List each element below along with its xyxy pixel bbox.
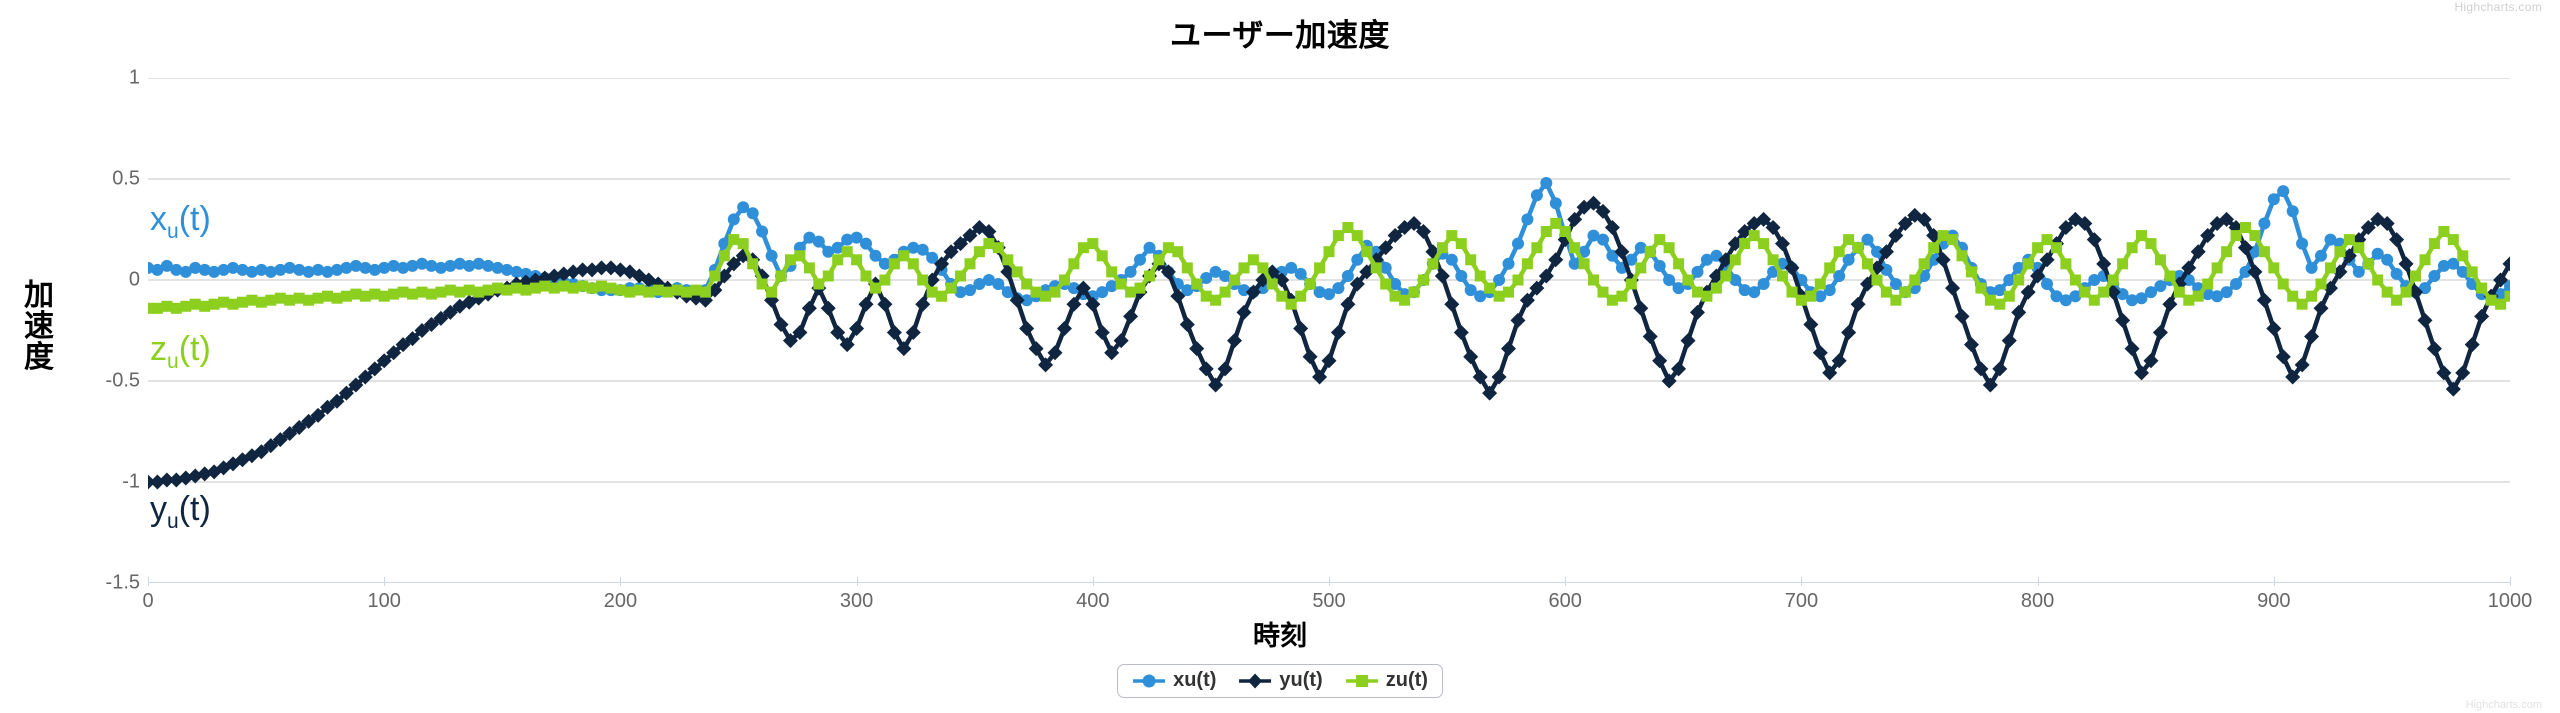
series-point bbox=[1116, 279, 1127, 290]
series-point bbox=[313, 293, 324, 304]
series-point bbox=[908, 258, 919, 269]
series-point bbox=[558, 281, 569, 292]
x-tick-label: 300 bbox=[797, 590, 917, 613]
series-point bbox=[1314, 262, 1325, 273]
series-point bbox=[946, 283, 957, 294]
series-point bbox=[2174, 287, 2185, 298]
series-point bbox=[2306, 291, 2317, 302]
series-point bbox=[492, 283, 503, 294]
series-point bbox=[2146, 238, 2157, 249]
series-point bbox=[1824, 262, 1835, 273]
series-point bbox=[766, 250, 778, 262]
series-point bbox=[955, 271, 966, 282]
highcharts-watermark: Highcharts.com bbox=[2454, 0, 2542, 14]
series-point bbox=[1541, 226, 1552, 237]
y-axis-title-char: 速 bbox=[16, 311, 62, 342]
series-point bbox=[1521, 213, 1533, 225]
series-point bbox=[1390, 291, 1401, 302]
series-point bbox=[1494, 291, 1505, 302]
series-point bbox=[1097, 250, 1108, 261]
series-point bbox=[2457, 250, 2468, 261]
series-point bbox=[1153, 254, 1164, 265]
annotation-subscript: u bbox=[167, 350, 179, 373]
series-point bbox=[2221, 286, 2233, 298]
series-point bbox=[1446, 230, 1457, 241]
series-point bbox=[549, 283, 560, 294]
series-point bbox=[530, 283, 541, 294]
series-point bbox=[152, 303, 163, 314]
series-point bbox=[1446, 254, 1458, 266]
series-point bbox=[700, 287, 711, 298]
series-point bbox=[1125, 287, 1136, 298]
series-point bbox=[1236, 305, 1251, 320]
x-tick-label: 800 bbox=[1978, 590, 2098, 613]
legend-label: xu(t) bbox=[1173, 669, 1216, 692]
series-point bbox=[2467, 266, 2478, 277]
series-point bbox=[1711, 283, 1722, 294]
series-point bbox=[1135, 283, 1146, 294]
series-point bbox=[218, 297, 229, 308]
series-point bbox=[1919, 258, 1930, 269]
legend-marker-diamond-icon bbox=[1238, 672, 1272, 690]
x-axis-title: 時刻 bbox=[0, 614, 2560, 653]
series-point bbox=[2051, 242, 2062, 253]
series-point bbox=[2296, 238, 2308, 250]
series-point bbox=[2155, 254, 2166, 265]
series-point bbox=[426, 289, 437, 300]
legend-marker-circle-icon bbox=[1132, 672, 1166, 690]
series-point bbox=[757, 279, 768, 290]
series-point bbox=[870, 283, 881, 294]
series-point bbox=[606, 283, 617, 294]
legend-item-xu(t)[interactable]: xu(t) bbox=[1132, 669, 1216, 692]
series-point bbox=[568, 283, 579, 294]
series-point bbox=[1465, 254, 1476, 265]
series-point bbox=[1134, 254, 1146, 266]
series-point bbox=[842, 246, 853, 257]
series-point bbox=[870, 250, 882, 262]
y-axis-title: 加速度 bbox=[16, 280, 62, 374]
xu-annotation: xu(t) bbox=[150, 200, 211, 244]
series-point bbox=[2060, 258, 2071, 269]
series-point bbox=[2476, 283, 2487, 294]
series-point bbox=[1229, 275, 1240, 286]
y-tick-label: -1 bbox=[70, 471, 140, 494]
series-point bbox=[2258, 217, 2270, 229]
series-point bbox=[1758, 238, 1769, 249]
series-point bbox=[1106, 266, 1117, 277]
series-point bbox=[879, 275, 890, 286]
y-axis-title-char: 加 bbox=[16, 280, 62, 311]
series-point bbox=[1352, 230, 1363, 241]
chart-title: ユーザー加速度 bbox=[0, 10, 2560, 55]
series-point bbox=[877, 297, 892, 312]
series-point bbox=[653, 285, 664, 296]
series-point bbox=[2420, 254, 2431, 265]
series-point bbox=[1180, 317, 1195, 332]
series-point bbox=[917, 275, 928, 286]
series-point bbox=[1002, 254, 1013, 265]
series-point bbox=[2070, 275, 2081, 286]
series-point bbox=[2013, 275, 2024, 286]
series-point bbox=[1210, 295, 1221, 306]
series-point bbox=[1380, 279, 1391, 290]
plot-svg bbox=[148, 78, 2510, 583]
series-point bbox=[1947, 234, 1958, 245]
series-point bbox=[1834, 246, 1845, 257]
series-point bbox=[473, 287, 484, 298]
series-point bbox=[1454, 325, 1469, 340]
x-tick-mark bbox=[2274, 577, 2275, 586]
annotation-subscript: u bbox=[167, 510, 179, 533]
annotation-suffix: (t) bbox=[179, 200, 211, 238]
series-point bbox=[1955, 309, 1970, 324]
series-point bbox=[1503, 258, 1515, 270]
series-point bbox=[1607, 295, 1618, 306]
series-point bbox=[2325, 262, 2336, 273]
series-point bbox=[2136, 230, 2147, 241]
series-point bbox=[1787, 287, 1798, 298]
series-point bbox=[1643, 329, 1658, 344]
series-point bbox=[2193, 291, 2204, 302]
yu-annotation: yu(t) bbox=[150, 490, 211, 534]
annotation-suffix: (t) bbox=[179, 330, 211, 368]
series-point bbox=[1805, 291, 1816, 302]
series-point bbox=[813, 279, 824, 290]
series-point bbox=[2268, 262, 2279, 273]
series-point bbox=[1522, 258, 1533, 269]
series-point bbox=[1050, 287, 1061, 298]
annotation-base: x bbox=[150, 200, 167, 238]
series-point bbox=[1690, 305, 1705, 320]
series-point bbox=[1189, 341, 1204, 356]
series-point bbox=[1531, 189, 1543, 201]
series-point bbox=[2276, 349, 2291, 364]
legend-marker-square-icon bbox=[1345, 672, 1379, 690]
series-point bbox=[303, 295, 314, 306]
series-point bbox=[1815, 279, 1826, 290]
series-point bbox=[1503, 287, 1514, 298]
x-tick-mark bbox=[857, 577, 858, 586]
x-tick-mark bbox=[1093, 577, 1094, 586]
series-point bbox=[502, 285, 513, 296]
plot-area bbox=[148, 78, 2510, 583]
x-tick-label: 900 bbox=[2214, 590, 2334, 613]
series-point bbox=[1484, 283, 1495, 294]
y-tick-label: 0.5 bbox=[70, 168, 140, 191]
series-point bbox=[1248, 254, 1259, 265]
series-point bbox=[1303, 349, 1318, 364]
series-point bbox=[1739, 238, 1750, 249]
series-point bbox=[1305, 279, 1316, 290]
series-point bbox=[634, 285, 645, 296]
series-point bbox=[1512, 238, 1524, 250]
series-point bbox=[454, 287, 465, 298]
series-point bbox=[596, 281, 607, 292]
series-point bbox=[2465, 337, 2480, 352]
series-point bbox=[1994, 299, 2005, 310]
series-point bbox=[992, 278, 1004, 290]
chart-legend: xu(t)yu(t)zu(t) bbox=[1117, 664, 1443, 698]
x-tick-label: 600 bbox=[1505, 590, 1625, 613]
series-point bbox=[2344, 234, 2355, 245]
series-point bbox=[2162, 297, 2177, 312]
series-point bbox=[1579, 258, 1590, 269]
series-point bbox=[719, 250, 730, 261]
series-point bbox=[1342, 222, 1353, 233]
series-point bbox=[756, 226, 768, 238]
series-point bbox=[2089, 295, 2100, 306]
series-point bbox=[2202, 279, 2213, 290]
annotation-subscript: u bbox=[167, 220, 179, 243]
series-point bbox=[2041, 278, 2053, 290]
x-tick-mark bbox=[384, 577, 385, 586]
series-point bbox=[2212, 262, 2223, 273]
legend-item-yu(t)[interactable]: yu(t) bbox=[1238, 669, 1322, 692]
series-point bbox=[1664, 242, 1675, 253]
series-point bbox=[1777, 271, 1788, 282]
series-point bbox=[1418, 275, 1429, 286]
series-point bbox=[898, 250, 909, 261]
series-point bbox=[1654, 234, 1665, 245]
series-point bbox=[1598, 287, 1609, 298]
series-point bbox=[2240, 222, 2251, 233]
series-point bbox=[861, 271, 872, 282]
series-point bbox=[2221, 246, 2232, 257]
series-point bbox=[2266, 321, 2281, 336]
series-point bbox=[2002, 333, 2017, 348]
x-tick-label: 100 bbox=[324, 590, 444, 613]
x-tick-mark bbox=[2510, 577, 2511, 586]
series-point bbox=[823, 271, 834, 282]
series-point bbox=[294, 293, 305, 304]
series-point bbox=[1361, 246, 1372, 257]
series-point bbox=[1881, 287, 1892, 298]
series-point bbox=[464, 285, 475, 296]
series-point bbox=[1324, 246, 1335, 257]
series-point bbox=[587, 283, 598, 294]
series-point bbox=[1964, 337, 1979, 352]
series-point bbox=[1560, 226, 1571, 237]
y-axis-title-char: 度 bbox=[16, 342, 62, 373]
series-point bbox=[1456, 238, 1467, 249]
series-point bbox=[821, 301, 836, 316]
series-point bbox=[2079, 287, 2090, 298]
y-tick-label: 1 bbox=[70, 67, 140, 90]
series-point bbox=[1435, 268, 1450, 283]
series-point bbox=[1985, 295, 1996, 306]
series-point bbox=[1796, 295, 1807, 306]
series-point bbox=[747, 258, 758, 269]
series-point bbox=[360, 291, 371, 302]
series-point bbox=[1144, 242, 1156, 254]
series-point bbox=[2382, 287, 2393, 298]
series-point bbox=[2429, 238, 2440, 249]
series-point bbox=[275, 293, 286, 304]
series-point bbox=[1332, 282, 1344, 294]
series-point bbox=[965, 258, 976, 269]
series-point bbox=[993, 242, 1004, 253]
series-point bbox=[2164, 271, 2175, 282]
series-point bbox=[2486, 295, 2497, 306]
series-point bbox=[624, 287, 635, 298]
series-point bbox=[407, 289, 418, 300]
series-point bbox=[1295, 291, 1306, 302]
series-point bbox=[1652, 353, 1667, 368]
series-point bbox=[1654, 260, 1666, 272]
series-point bbox=[1257, 262, 1268, 273]
series-point bbox=[2011, 305, 2026, 320]
series-point bbox=[1057, 321, 1072, 336]
legend-label: zu(t) bbox=[1386, 669, 1428, 692]
zu-annotation: zu(t) bbox=[150, 330, 211, 374]
series-point bbox=[936, 291, 947, 302]
series-point bbox=[1501, 341, 1516, 356]
series-point bbox=[1945, 281, 1960, 296]
series-point bbox=[728, 234, 739, 245]
series-point bbox=[2259, 246, 2270, 257]
series-point bbox=[369, 289, 380, 300]
series-point bbox=[1513, 275, 1524, 286]
series-point bbox=[1191, 279, 1202, 290]
series-point bbox=[672, 285, 683, 296]
series-point bbox=[889, 258, 900, 269]
annotation-suffix: (t) bbox=[179, 490, 211, 528]
series-point bbox=[1966, 266, 1977, 277]
series-point bbox=[1813, 345, 1828, 360]
series-point bbox=[1550, 197, 1562, 209]
series-point bbox=[1938, 230, 1949, 241]
series-point bbox=[1475, 271, 1486, 282]
series-point bbox=[1692, 287, 1703, 298]
series-point bbox=[1540, 177, 1552, 189]
x-tick-mark bbox=[1565, 577, 1566, 586]
series-point bbox=[1909, 275, 1920, 286]
series-point bbox=[2125, 341, 2140, 356]
series-point bbox=[1663, 274, 1675, 286]
series-point bbox=[2108, 275, 2119, 286]
series-point bbox=[1399, 295, 1410, 306]
series-point bbox=[917, 244, 929, 256]
series-point bbox=[1172, 246, 1183, 257]
series-point bbox=[1144, 271, 1155, 282]
series-point bbox=[1701, 291, 1712, 302]
series-point bbox=[2183, 295, 2194, 306]
x-tick-label: 500 bbox=[1269, 590, 1389, 613]
series-point bbox=[1843, 234, 1854, 245]
series-point bbox=[2316, 279, 2327, 290]
series-point bbox=[1095, 325, 1110, 340]
series-point bbox=[1068, 258, 1079, 269]
series-point bbox=[1293, 321, 1308, 336]
series-point bbox=[1673, 258, 1684, 269]
series-point bbox=[2004, 291, 2015, 302]
chart-container: ユーザー加速度 Highcharts.com Highcharts.com 加速… bbox=[0, 0, 2560, 713]
series-point bbox=[1758, 278, 1770, 290]
series-point bbox=[1569, 242, 1580, 253]
series-point bbox=[1853, 242, 1864, 253]
series-point bbox=[2353, 242, 2364, 253]
legend-item-zu(t)[interactable]: zu(t) bbox=[1345, 669, 1428, 692]
series-point bbox=[662, 287, 673, 298]
series-point bbox=[860, 238, 872, 250]
x-tick-label: 1000 bbox=[2450, 590, 2560, 613]
series-point bbox=[2495, 299, 2506, 310]
series-point bbox=[1220, 287, 1231, 298]
series-point bbox=[1227, 333, 1242, 348]
x-tick-mark bbox=[620, 577, 621, 586]
series-point bbox=[2334, 246, 2345, 257]
series-point bbox=[341, 291, 352, 302]
series-point bbox=[332, 293, 343, 304]
series-point bbox=[1588, 275, 1599, 286]
series-point bbox=[2391, 295, 2402, 306]
series-point bbox=[2314, 301, 2329, 316]
series-point bbox=[681, 287, 692, 298]
series-point bbox=[265, 295, 276, 306]
series-point bbox=[2287, 291, 2298, 302]
series-point bbox=[1012, 266, 1023, 277]
series-point bbox=[2230, 278, 2242, 290]
series-point bbox=[2287, 205, 2299, 217]
series-point bbox=[161, 301, 172, 312]
series-point bbox=[1616, 291, 1627, 302]
series-point bbox=[1078, 242, 1089, 253]
series-point bbox=[851, 254, 862, 265]
series-point bbox=[738, 238, 749, 249]
x-tick-mark bbox=[1801, 577, 1802, 586]
series-point bbox=[379, 291, 390, 302]
series-point bbox=[2127, 242, 2138, 253]
series-point bbox=[1928, 242, 1939, 253]
series-point bbox=[2474, 309, 2489, 324]
series-point bbox=[1550, 218, 1561, 229]
series-point bbox=[190, 299, 201, 310]
series-point bbox=[2304, 329, 2319, 344]
series-point bbox=[2032, 242, 2043, 253]
series-point bbox=[2401, 287, 2412, 298]
series-point bbox=[350, 289, 361, 300]
x-tick-mark bbox=[148, 577, 149, 586]
series-point bbox=[2372, 275, 2383, 286]
series-point bbox=[1975, 283, 1986, 294]
series-point bbox=[1748, 286, 1760, 298]
series-point bbox=[1683, 275, 1694, 286]
series-point bbox=[511, 283, 522, 294]
series-point bbox=[1427, 258, 1438, 269]
series-point bbox=[915, 297, 930, 312]
series-point bbox=[709, 271, 720, 282]
series-point bbox=[804, 262, 815, 273]
series-point bbox=[388, 289, 399, 300]
series-point bbox=[1342, 270, 1354, 282]
series-point bbox=[1862, 258, 1873, 269]
series-point bbox=[1239, 262, 1250, 273]
series-point bbox=[776, 271, 787, 282]
series-point bbox=[832, 254, 843, 265]
series-point bbox=[2306, 262, 2318, 274]
series-point bbox=[1021, 279, 1032, 290]
annotation-base: z bbox=[150, 330, 167, 368]
series-point bbox=[728, 213, 740, 225]
x-tick-label: 200 bbox=[560, 590, 680, 613]
series-point bbox=[1331, 325, 1346, 340]
series-point bbox=[1295, 268, 1307, 280]
series-point bbox=[1019, 321, 1034, 336]
series-point bbox=[1444, 297, 1459, 312]
series-point bbox=[1267, 279, 1278, 290]
series-point bbox=[445, 285, 456, 296]
